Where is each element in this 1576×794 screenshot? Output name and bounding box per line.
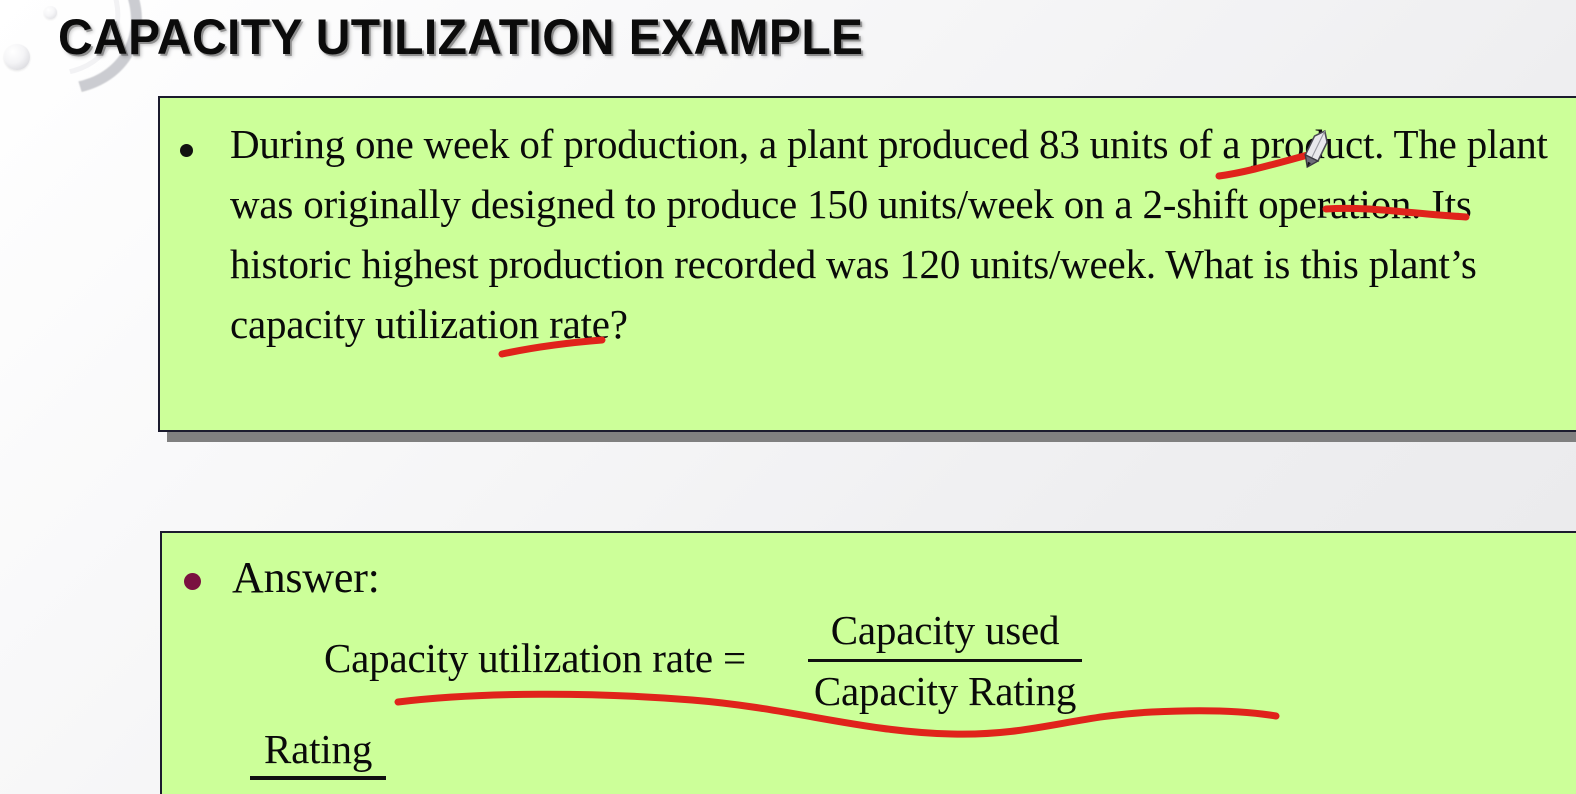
formula-left-side: Capacity utilization rate = [324, 635, 746, 681]
pen-icon [1296, 126, 1336, 172]
capacity-utilization-formula: Capacity utilization rate = Capacity use… [324, 605, 1082, 720]
page-title: CAPACITY UTILIZATION EXAMPLE [58, 6, 863, 68]
bullet-icon-maroon [184, 573, 201, 590]
bullet-icon [180, 144, 193, 157]
formula-fraction: Capacity used Capacity Rating [808, 603, 1082, 718]
slide-canvas: CAPACITY UTILIZATION EXAMPLE During one … [0, 0, 1576, 794]
bubble-decor-small-icon [44, 6, 57, 19]
problem-statement-text: During one week of production, a plant p… [230, 114, 1560, 354]
rating-word: Rating [250, 726, 386, 780]
fraction-numerator: Capacity used [808, 603, 1082, 662]
fraction-denominator: Capacity Rating [808, 662, 1082, 718]
answer-label: Answer: [232, 549, 380, 607]
answer-box: Answer: Capacity utilization rate = Capa… [160, 531, 1576, 794]
problem-statement-box: During one week of production, a plant p… [158, 96, 1576, 432]
rating-annotation: Rating [250, 721, 386, 777]
bubble-decor-icon [4, 44, 30, 70]
